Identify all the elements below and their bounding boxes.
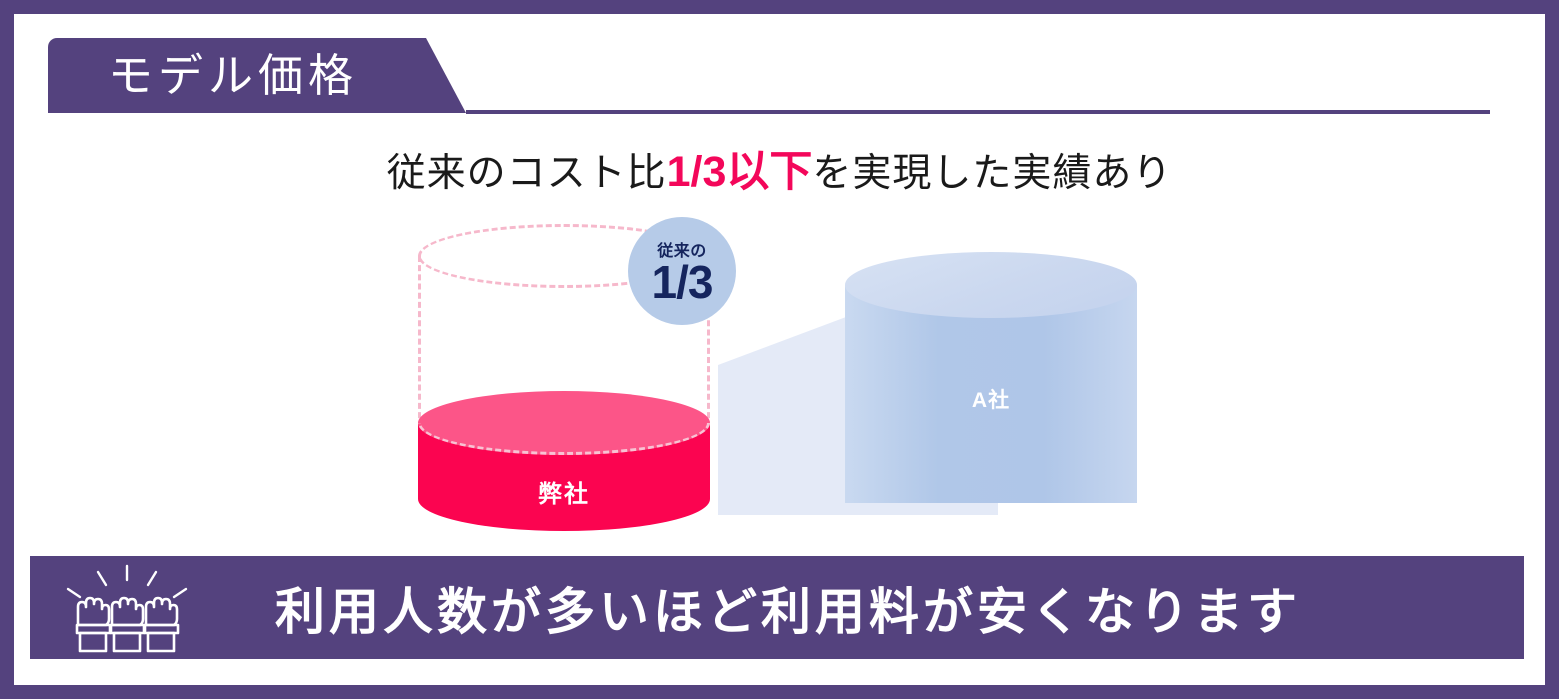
header-divider-rule [466, 110, 1490, 114]
frame-border-top [0, 0, 1559, 14]
slide-canvas: モデル価格 従来のコスト比1/3以下を実現した実績あり A社 弊社 [0, 0, 1559, 699]
cylinder-competitor-top [845, 252, 1137, 318]
headline-suffix: を実現した実績あり [812, 152, 1172, 195]
fraction-badge-value: 1/3 [652, 259, 713, 305]
headline-accent: 1/3以下 [667, 148, 813, 196]
headline-prefix: 従来のコスト比 [387, 152, 667, 195]
bottom-banner-text: 利用人数が多いほど利用料が安くなります [202, 572, 1524, 644]
bottom-banner: 利用人数が多いほど利用料が安くなります [30, 556, 1524, 659]
cylinder-ours-label: 弊社 [418, 474, 710, 509]
frame-border-bottom [0, 685, 1559, 699]
cylinder-ours: 弊社 [418, 391, 710, 531]
section-title-tab: モデル価格 [48, 38, 466, 113]
cylinder-competitor-label: A社 [845, 384, 1137, 414]
headline: 従来のコスト比1/3以下を実現した実績あり [0, 137, 1559, 199]
cylinder-competitor: A社 [845, 252, 1137, 535]
section-title-label: モデル価格 [108, 53, 358, 98]
comparison-chart: A社 弊社 従来の 1/3 [0, 195, 1559, 550]
fraction-badge: 従来の 1/3 [628, 217, 736, 325]
raised-hands-icon [52, 563, 202, 653]
